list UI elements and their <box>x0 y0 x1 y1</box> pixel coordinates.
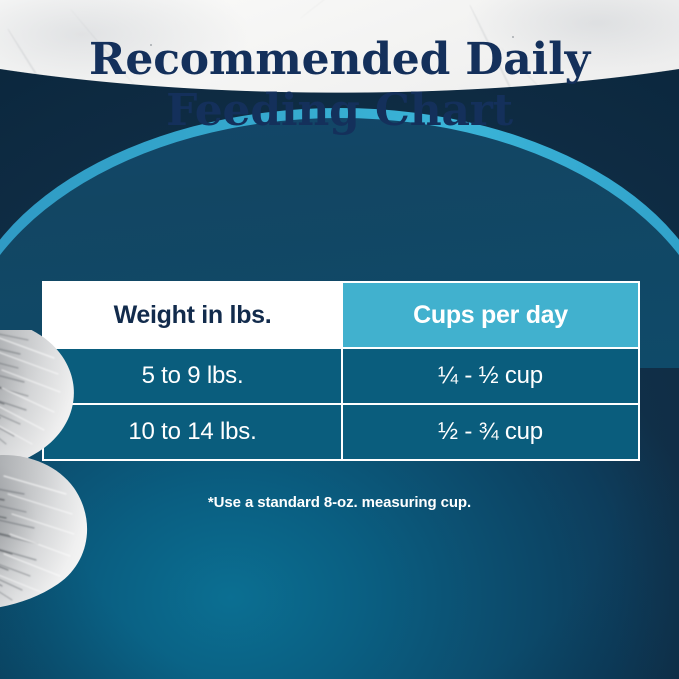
table-cell-cups: ½ - ¾ cup <box>343 405 638 459</box>
page-title-line-1: Recommended Daily <box>0 34 679 85</box>
page-title-line-2: Feeding Chart <box>0 85 679 136</box>
cat-paws-illustration <box>0 330 230 679</box>
marble-speck <box>256 152 258 154</box>
table-cell-cups: ¼ - ½ cup <box>343 349 638 403</box>
feeding-chart-graphic: Recommended Daily Feeding Chart Weight i… <box>0 0 679 679</box>
marble-vein <box>300 0 356 19</box>
table-header-cups: Cups per day <box>343 283 638 347</box>
page-title: Recommended Daily Feeding Chart <box>0 34 679 136</box>
